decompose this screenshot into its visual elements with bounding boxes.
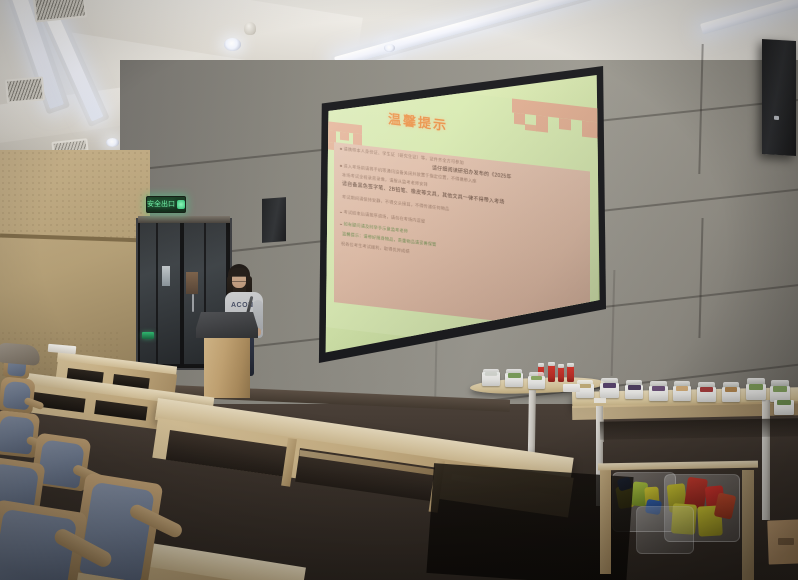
presenter-bangs (230, 268, 248, 276)
door-mullion (156, 220, 158, 366)
bottle-cap (558, 364, 564, 368)
screen-surface: 温馨提示 请携带本人身份证、学生证（研究生证）等，证件齐全方可参加 请仔细阅读研… (316, 66, 606, 366)
table-under-shadow (600, 418, 798, 439)
door-handle-icon[interactable] (192, 294, 194, 312)
desk-leg-panel (742, 470, 754, 580)
emergency-exit-sign: 安全出口 (146, 196, 186, 213)
lectern-body (204, 336, 250, 398)
desk-leg-panel (600, 466, 611, 574)
glasses-icon (232, 276, 246, 282)
projection-screen: 温馨提示 请携带本人身份证、学生证（研究生证）等，证件齐全方可参加 请仔细阅读研… (316, 66, 606, 366)
food-contents (508, 373, 521, 378)
chair-backrest (0, 415, 35, 454)
food-contents (531, 376, 542, 380)
bottle-cap (538, 363, 544, 367)
red-thermos (548, 365, 555, 382)
food-contents (773, 386, 787, 392)
smoke-detector-icon (244, 22, 256, 35)
slide-footer-note: 研招办 宣 (550, 337, 569, 343)
lecture-hall-photo: 安全出口 (0, 0, 798, 580)
food-contents (652, 386, 665, 391)
door-mullion (180, 220, 184, 366)
lectern (196, 312, 258, 396)
slide-decor-block (525, 124, 537, 131)
bullet-icon (340, 223, 342, 225)
napkin-stack (563, 384, 580, 392)
wall-speaker-left (262, 197, 286, 243)
box-label (778, 538, 794, 545)
speaker-led-icon (774, 116, 779, 120)
chair-backrest (3, 381, 32, 411)
food-contents (628, 385, 641, 390)
wall-speaker-right (762, 39, 796, 156)
bullet-icon (340, 211, 342, 213)
slide-decor-block (340, 132, 349, 141)
bullet-icon (340, 148, 342, 150)
red-thermos (558, 367, 564, 382)
bullet-icon (340, 165, 342, 167)
food-contents (700, 387, 713, 392)
slide-decor-block (559, 118, 571, 130)
bottle-cap (548, 362, 555, 366)
food-contents (749, 384, 763, 390)
napkin-stack (594, 398, 606, 403)
slide-decor-block (514, 113, 525, 125)
exit-sign-label: 安全出口 (147, 201, 175, 208)
interior-exit-sign-icon (142, 332, 154, 339)
door-glass-pane (140, 222, 180, 364)
downlight (106, 138, 119, 147)
food-contents (603, 383, 616, 388)
downlight (224, 38, 241, 51)
food-contents (579, 384, 591, 388)
food-contents (725, 387, 737, 392)
ceiling-vent (5, 76, 45, 103)
wall-perforation-texture (0, 150, 150, 242)
red-thermos (567, 366, 574, 382)
food-contents (777, 400, 791, 405)
door-header-bar (138, 216, 230, 223)
downlight (384, 44, 395, 52)
slide-decor-block (536, 115, 548, 132)
food-contents (485, 372, 497, 376)
door-window-light (162, 266, 170, 286)
slide-decor-block (582, 121, 598, 139)
lectern-top (196, 312, 258, 338)
food-contents (676, 386, 688, 391)
door-poster (186, 272, 198, 294)
presentation-slide: 温馨提示 请携带本人身份证、学生证（研究生证）等，证件齐全方可参加 请仔细阅读研… (316, 66, 606, 366)
plastic-bag (636, 506, 694, 554)
bottle-cap (567, 363, 574, 367)
running-man-icon (177, 200, 185, 209)
